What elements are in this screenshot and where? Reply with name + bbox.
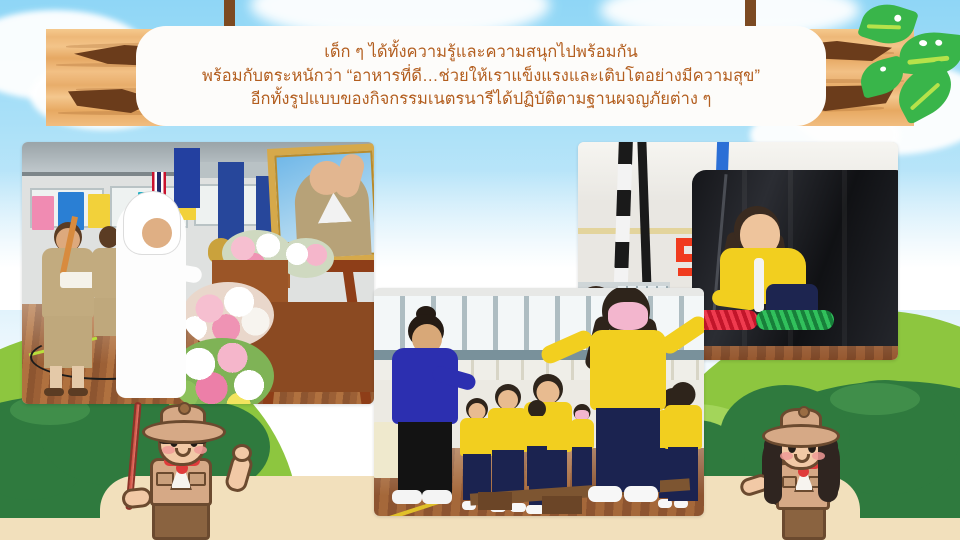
cheek-blush xyxy=(780,452,793,460)
girl-scout-character xyxy=(748,392,868,540)
cheek-blush xyxy=(194,446,207,454)
tinsel-green xyxy=(756,310,834,330)
teacher-figure xyxy=(392,314,458,514)
beam-support xyxy=(542,496,582,514)
sign-text-line-1: เด็ก ๆ ได้ทั้งความรู้และความสนุกไปพร้อมก… xyxy=(324,41,638,63)
person-shoe xyxy=(392,490,422,504)
scout-pants xyxy=(152,500,210,540)
cheek-blush xyxy=(162,446,175,454)
scout-hat-brim xyxy=(142,420,226,444)
hair-side xyxy=(764,436,782,504)
person-shoe xyxy=(422,490,452,504)
scout-hat-brim xyxy=(762,424,840,448)
person-shoe xyxy=(588,486,622,502)
photo-ceremony[interactable] xyxy=(22,142,374,404)
person-shoe xyxy=(44,388,64,396)
blue-banner xyxy=(174,148,200,208)
black-trousers xyxy=(398,422,452,496)
shirt-pocket xyxy=(782,476,797,488)
person-arm xyxy=(121,486,153,509)
person-face xyxy=(142,218,172,248)
student-stepping-off-beam xyxy=(578,288,674,516)
photo-ceremony-content xyxy=(22,142,374,404)
photo-balance-beam[interactable] xyxy=(374,288,704,516)
shirt-pocket xyxy=(156,472,174,486)
person-shoe xyxy=(624,486,658,502)
slide-canvas: เด็ก ๆ ได้ทั้งความรู้และความสนุกไปพร้อมก… xyxy=(0,0,960,540)
uniform-skirt xyxy=(44,316,92,368)
yellow-uniform xyxy=(590,330,666,410)
photo-balance-beam-content xyxy=(374,288,704,516)
student-crawling xyxy=(710,206,826,326)
navy-trousers xyxy=(596,408,660,492)
blue-polo-shirt xyxy=(392,348,458,424)
face-mask xyxy=(608,302,648,330)
person-shoe xyxy=(68,388,88,396)
hat-knob xyxy=(178,402,191,415)
nun-figure xyxy=(116,198,186,398)
sign-text-line-2: พร้อมกับตระหนักว่า “อาหารที่ดี…ช่วยให้เร… xyxy=(202,65,760,87)
student-in-line xyxy=(524,400,550,496)
cheek-blush xyxy=(812,452,825,460)
boy-scout-character xyxy=(118,396,248,540)
shirt-pocket xyxy=(188,472,206,486)
uniform-ribbon xyxy=(754,258,764,312)
sign-text-panel: เด็ก ๆ ได้ทั้งความรู้และความสนุกไปพร้อมก… xyxy=(136,26,826,126)
person-hand xyxy=(232,444,252,462)
hat-knob xyxy=(798,406,810,418)
beam-support xyxy=(478,492,512,510)
sign-text-line-3: อีกทั้งรูปแบบของกิจกรรมเนตรนารีได้ปฏิบัต… xyxy=(251,88,712,110)
